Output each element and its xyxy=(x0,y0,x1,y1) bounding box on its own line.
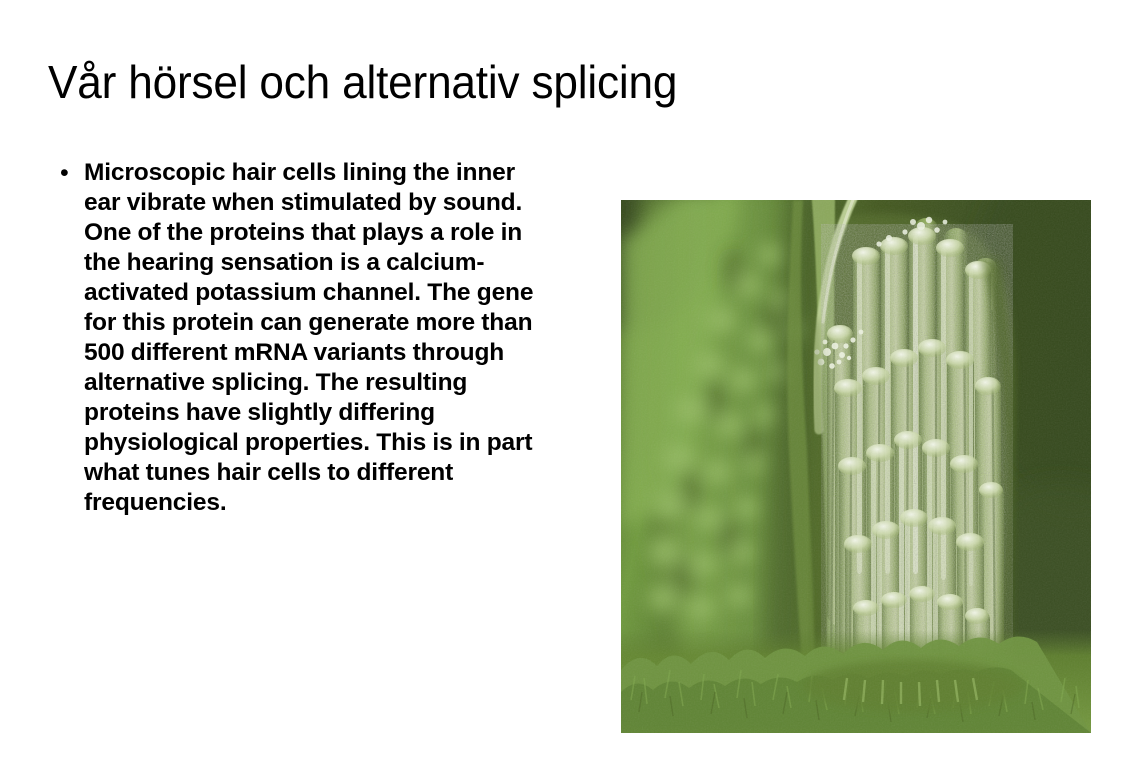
hair-cell-stereocilia-micrograph xyxy=(621,200,1091,733)
bullet-item-text: Microscopic hair cells lining the inner … xyxy=(84,158,556,518)
bullet-point-icon: • xyxy=(56,158,84,188)
list-item: • Microscopic hair cells lining the inne… xyxy=(56,158,556,518)
page-title: Vår hörsel och alternativ splicing xyxy=(48,53,1037,111)
micrograph-graphic xyxy=(621,200,1091,733)
presentation-slide: Vår hörsel och alternativ splicing • Mic… xyxy=(0,0,1126,766)
slide-bottom-edge xyxy=(0,734,1126,766)
bullet-list: • Microscopic hair cells lining the inne… xyxy=(56,158,556,518)
